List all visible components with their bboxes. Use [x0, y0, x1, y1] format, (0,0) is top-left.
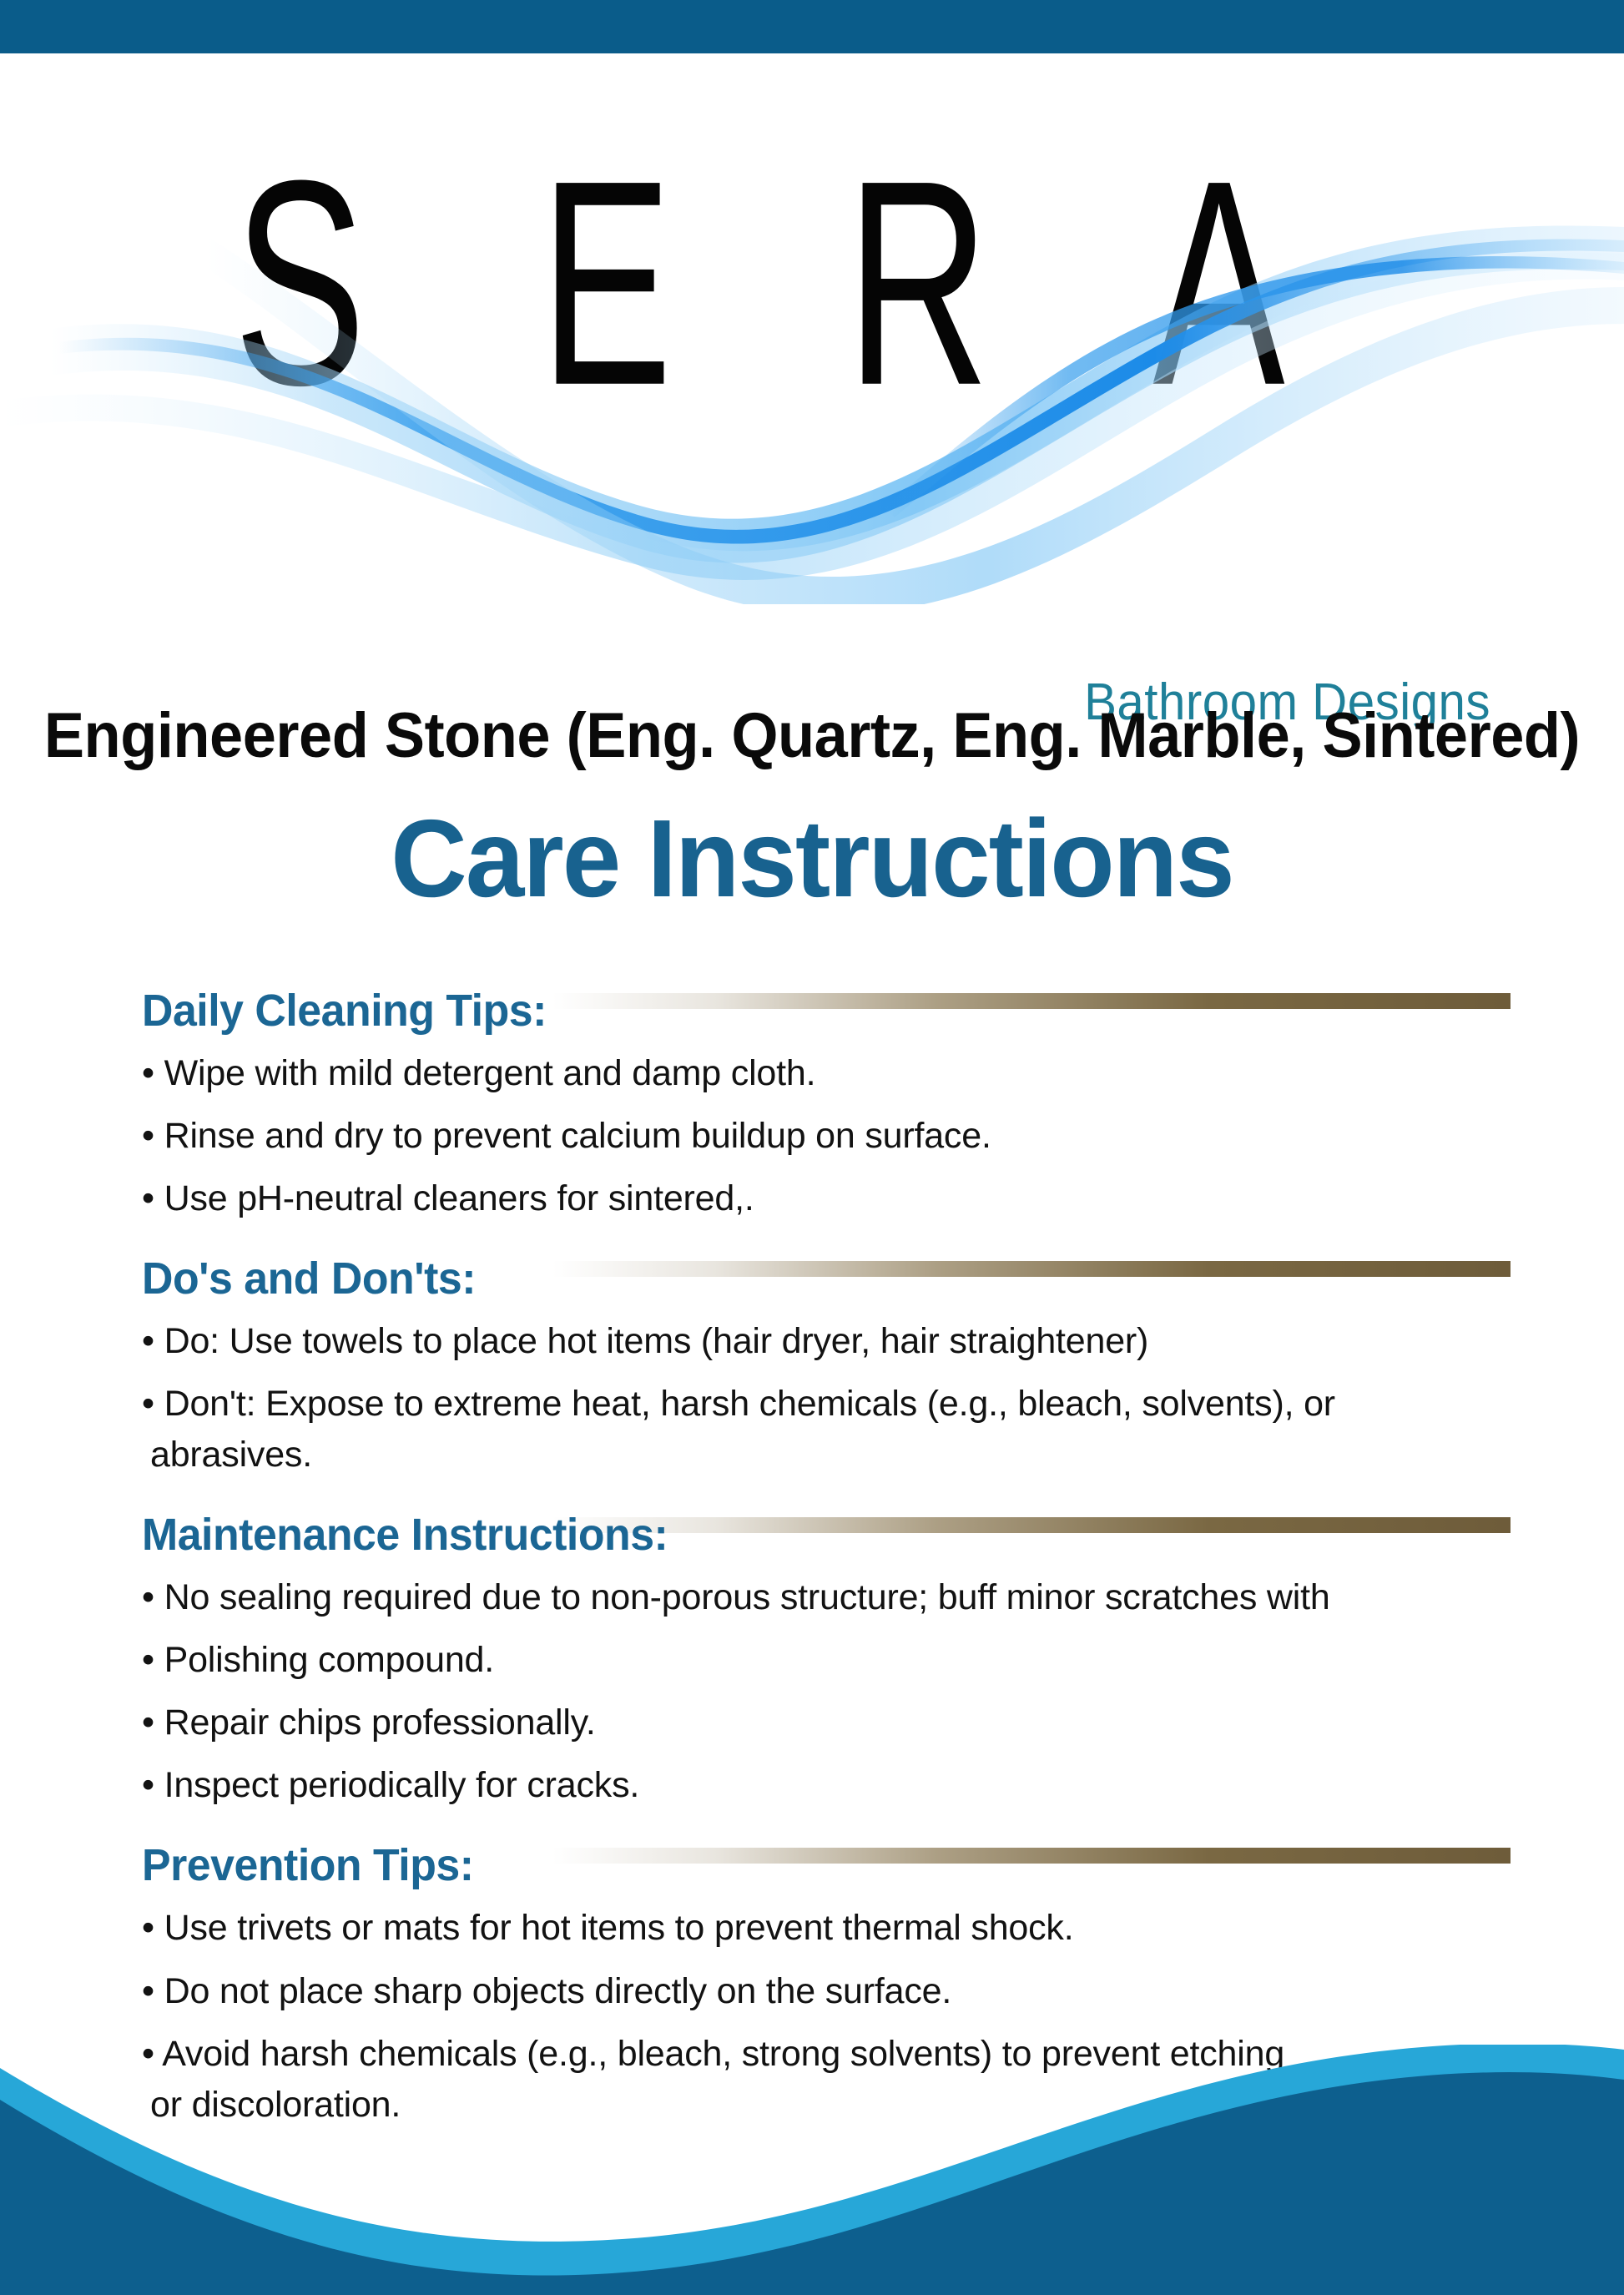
list-item: • No sealing required due to non-porous … [142, 1572, 1511, 1623]
section-header: Do's and Don'ts: [142, 1253, 1511, 1304]
brand-logo-area: S E R A [0, 53, 1624, 688]
list-item: • Inspect periodically for cracks. [142, 1760, 1511, 1811]
sera-wordmark: S E R A [234, 137, 1099, 429]
section-header: Maintenance Instructions: [142, 1509, 1511, 1561]
list-item-continuation: abrasives. [142, 1430, 1511, 1480]
section-title: Prevention Tips: [142, 1839, 474, 1891]
footer-wave-graphic [0, 2045, 1624, 2295]
list-item: • Wipe with mild detergent and damp clot… [142, 1048, 1511, 1099]
list-item: • Use pH-neutral cleaners for sintered,. [142, 1173, 1511, 1224]
section-daily-cleaning-tips: Daily Cleaning Tips: • Wipe with mild de… [142, 985, 1511, 1224]
list-item: • Repair chips professionally. [142, 1697, 1511, 1748]
section-maintenance-instructions: Maintenance Instructions: • No sealing r… [142, 1509, 1511, 1811]
list-item: • Use trivets or mats for hot items to p… [142, 1903, 1511, 1954]
list-item: • Don't: Expose to extreme heat, harsh c… [142, 1379, 1511, 1430]
list-item: • Rinse and dry to prevent calcium build… [142, 1111, 1511, 1162]
header-accent-bar [0, 0, 1624, 53]
poster-title: Care Instructions [33, 801, 1591, 917]
bullet-list: • Wipe with mild detergent and damp clot… [142, 1048, 1511, 1224]
section-title: Do's and Don'ts: [142, 1253, 476, 1304]
list-item: • Polishing compound. [142, 1635, 1511, 1686]
section-dos-and-donts: Do's and Don'ts: • Do: Use towels to pla… [142, 1253, 1511, 1480]
poster-subtitle: Engineered Stone (Eng. Quartz, Eng. Marb… [41, 699, 1584, 772]
section-title: Daily Cleaning Tips: [142, 985, 547, 1037]
list-item: • Do: Use towels to place hot items (hai… [142, 1316, 1511, 1367]
section-title: Maintenance Instructions: [142, 1509, 668, 1561]
sections-container: Daily Cleaning Tips: • Wipe with mild de… [142, 985, 1511, 2159]
list-item: • Do not place sharp objects directly on… [142, 1966, 1511, 2017]
care-instructions-poster: S E R A [0, 0, 1624, 2295]
bullet-list: • No sealing required due to non-porous … [142, 1572, 1511, 1811]
bullet-list: • Do: Use towels to place hot items (hai… [142, 1316, 1511, 1480]
section-header: Daily Cleaning Tips: [142, 985, 1511, 1037]
section-header: Prevention Tips: [142, 1839, 1511, 1891]
